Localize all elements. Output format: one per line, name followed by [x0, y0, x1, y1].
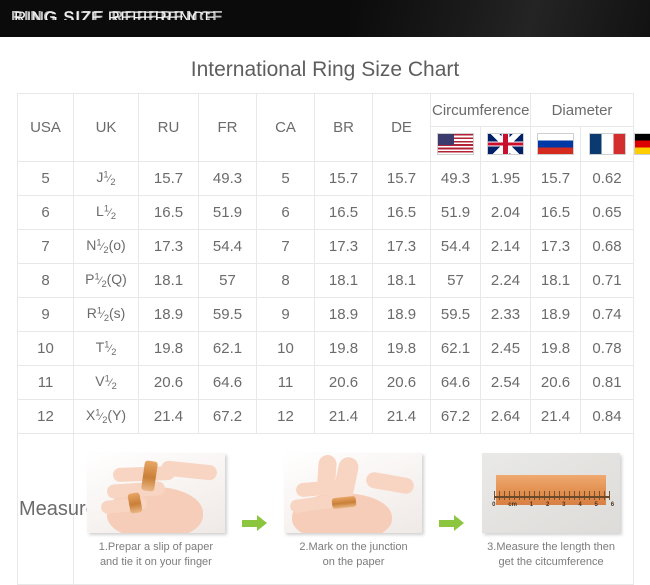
marking-paper-on-finger-photo [284, 453, 422, 533]
cell-br-7: 21.4 [315, 400, 373, 434]
measure-step-1-caption: 1.Prepar a slip of paperand tie it on yo… [86, 540, 226, 570]
cell-diameter-inch-5: 0.78 [581, 332, 634, 366]
flag-cell-uk [481, 127, 531, 162]
cell-br-1: 16.5 [315, 196, 373, 230]
cell-ru-4: 18.9 [139, 298, 199, 332]
cell-de-2: 17.3 [373, 230, 431, 264]
cell-usa-7: 12 [18, 400, 74, 434]
cell-de-0: 15.7 [373, 162, 431, 196]
col-header-br: BR [315, 94, 373, 162]
cell-diameter-inch-2: 0.68 [581, 230, 634, 264]
cell-usa-5: 10 [18, 332, 74, 366]
cell-diameter-inch-4: 0.74 [581, 298, 634, 332]
ruler-mark-3: 2 [546, 502, 549, 508]
cell-de-4: 18.9 [373, 298, 431, 332]
cell-circumference-inch-2: 2.14 [481, 230, 531, 264]
cell-usa-1: 6 [18, 196, 74, 230]
cell-circumference-mm-5: 62.1 [431, 332, 481, 366]
table-row: 8P1⁄2(Q)18.157818.118.1572.2418.10.71 [18, 264, 634, 298]
cell-circumference-inch-6: 2.54 [481, 366, 531, 400]
col-header-fr: FR [199, 94, 257, 162]
cell-uk-4: R1⁄2(s) [74, 298, 139, 332]
col-header-de: DE [373, 94, 431, 162]
cell-diameter-inch-0: 0.62 [581, 162, 634, 196]
col-header-circumference: Circumference [431, 94, 531, 127]
cell-uk-1: L1⁄2 [74, 196, 139, 230]
cell-de-6: 20.6 [373, 366, 431, 400]
ruler-mark-7: 6 [611, 502, 614, 508]
cell-fr-7: 67.2 [199, 400, 257, 434]
col-header-ca: CA [257, 94, 315, 162]
cell-uk-6: V1⁄2 [74, 366, 139, 400]
table-row: 10T1⁄219.862.11019.819.862.12.4519.80.78 [18, 332, 634, 366]
cell-diameter-mm-2: 17.3 [531, 230, 581, 264]
measure-step-2-caption: 2.Mark on the junctionon the paper [283, 540, 423, 570]
cell-ru-0: 15.7 [139, 162, 199, 196]
cell-circumference-mm-1: 51.9 [431, 196, 481, 230]
cell-ru-3: 18.1 [139, 264, 199, 298]
ruler-mark-5: 4 [578, 502, 581, 508]
cell-uk-3: P1⁄2(Q) [74, 264, 139, 298]
cell-diameter-inch-7: 0.84 [581, 400, 634, 434]
cell-circumference-inch-0: 1.95 [481, 162, 531, 196]
measure-steps: 1.Prepar a slip of paperand tie it on yo… [74, 445, 633, 574]
cell-diameter-mm-4: 18.9 [531, 298, 581, 332]
ruler-mark-6: 5 [595, 502, 598, 508]
page-banner: RING SIZE REFERENCE RING SIZE REFERENCE [0, 0, 650, 37]
cell-diameter-mm-6: 20.6 [531, 366, 581, 400]
cell-usa-2: 7 [18, 230, 74, 264]
page-title: International Ring Size Chart [0, 58, 650, 82]
cell-br-3: 18.1 [315, 264, 373, 298]
measure-row: Measure [18, 434, 634, 585]
col-header-diameter: Diameter [531, 94, 634, 127]
cell-br-6: 20.6 [315, 366, 373, 400]
banner-sheen [350, 0, 650, 37]
cell-circumference-inch-1: 2.04 [481, 196, 531, 230]
cell-br-5: 19.8 [315, 332, 373, 366]
ruler-mark-2: 1 [530, 502, 533, 508]
ring-size-table: USA UK RU FR CA BR DE Circumference Diam… [17, 93, 634, 585]
table-body: 5J1⁄215.749.3515.715.749.31.9515.70.626L… [18, 162, 634, 434]
cell-usa-4: 9 [18, 298, 74, 332]
arrow-right-icon-1 [242, 515, 268, 531]
measure-steps-cell: 1.Prepar a slip of paperand tie it on yo… [74, 434, 634, 585]
measure-label: Measure [18, 434, 74, 585]
cell-circumference-mm-7: 67.2 [431, 400, 481, 434]
table-header-row-labels: USA UK RU FR CA BR DE Circumference Diam… [18, 94, 634, 127]
col-header-usa: USA [18, 94, 74, 162]
table-footer: Measure [18, 434, 634, 585]
cell-ca-5: 10 [257, 332, 315, 366]
cell-circumference-mm-0: 49.3 [431, 162, 481, 196]
cell-diameter-mm-1: 16.5 [531, 196, 581, 230]
banner-mask-lower [0, 20, 340, 37]
banner-mask-upper [0, 0, 340, 7]
cell-ca-0: 5 [257, 162, 315, 196]
col-header-ru: RU [139, 94, 199, 162]
cell-diameter-mm-7: 21.4 [531, 400, 581, 434]
cell-ca-3: 8 [257, 264, 315, 298]
cell-circumference-inch-3: 2.24 [481, 264, 531, 298]
cell-uk-5: T1⁄2 [74, 332, 139, 366]
cell-de-5: 19.8 [373, 332, 431, 366]
ruler-scale-marks: 0cm123456 [492, 502, 614, 508]
cell-fr-0: 49.3 [199, 162, 257, 196]
fr-flag-icon [589, 133, 626, 155]
cell-ca-4: 9 [257, 298, 315, 332]
cell-diameter-inch-6: 0.81 [581, 366, 634, 400]
cell-uk-0: J1⁄2 [74, 162, 139, 196]
cell-ca-6: 11 [257, 366, 315, 400]
cell-fr-3: 57 [199, 264, 257, 298]
cell-ru-2: 17.3 [139, 230, 199, 264]
table-row: 5J1⁄215.749.3515.715.749.31.9515.70.62 [18, 162, 634, 196]
cell-de-7: 21.4 [373, 400, 431, 434]
cell-fr-1: 51.9 [199, 196, 257, 230]
cell-circumference-mm-6: 64.6 [431, 366, 481, 400]
cell-br-0: 15.7 [315, 162, 373, 196]
table-row: 7N1⁄2(o)17.354.4717.317.354.42.1417.30.6… [18, 230, 634, 264]
table-row: 12X1⁄2(Y)21.467.21221.421.467.22.6421.40… [18, 400, 634, 434]
cell-uk-2: N1⁄2(o) [74, 230, 139, 264]
ruler-mark-1: cm [508, 502, 517, 508]
cell-ca-1: 6 [257, 196, 315, 230]
measure-step-3-caption: 3.Measure the length thenget the citcumf… [481, 540, 621, 570]
measure-step-1: 1.Prepar a slip of paperand tie it on yo… [86, 453, 226, 570]
cell-de-1: 16.5 [373, 196, 431, 230]
table-row: 11V1⁄220.664.61120.620.664.62.5420.60.81 [18, 366, 634, 400]
cell-circumference-mm-3: 57 [431, 264, 481, 298]
cell-ru-5: 19.8 [139, 332, 199, 366]
cell-fr-4: 59.5 [199, 298, 257, 332]
de-flag-icon [634, 133, 650, 155]
cell-diameter-mm-0: 15.7 [531, 162, 581, 196]
ring-size-table-wrapper: USA UK RU FR CA BR DE Circumference Diam… [17, 93, 633, 585]
flag-cell-fr [581, 127, 634, 162]
cell-diameter-inch-1: 0.65 [581, 196, 634, 230]
cell-diameter-mm-3: 18.1 [531, 264, 581, 298]
cell-fr-2: 54.4 [199, 230, 257, 264]
uk-flag-icon [487, 133, 524, 155]
arrow-right-icon-2 [439, 515, 465, 531]
cell-fr-6: 64.6 [199, 366, 257, 400]
cell-fr-5: 62.1 [199, 332, 257, 366]
cell-ca-2: 7 [257, 230, 315, 264]
ruler-mark-0: 0 [492, 502, 495, 508]
cell-circumference-mm-4: 59.5 [431, 298, 481, 332]
cell-ru-7: 21.4 [139, 400, 199, 434]
measure-step-2: 2.Mark on the junctionon the paper [283, 453, 423, 570]
ruler-measuring-paper-photo: 0cm123456 [482, 453, 620, 533]
cell-circumference-inch-4: 2.33 [481, 298, 531, 332]
cell-usa-3: 8 [18, 264, 74, 298]
cell-ru-1: 16.5 [139, 196, 199, 230]
cell-circumference-inch-7: 2.64 [481, 400, 531, 434]
cell-br-4: 18.9 [315, 298, 373, 332]
hand-with-paper-strip-photo [87, 453, 225, 533]
ru-flag-icon [537, 133, 574, 155]
flag-cell-usa [431, 127, 481, 162]
table-row: 6L1⁄216.551.9616.516.551.92.0416.50.65 [18, 196, 634, 230]
cell-de-3: 18.1 [373, 264, 431, 298]
cell-ru-6: 20.6 [139, 366, 199, 400]
cell-diameter-inch-3: 0.71 [581, 264, 634, 298]
cell-usa-0: 5 [18, 162, 74, 196]
cell-br-2: 17.3 [315, 230, 373, 264]
cell-uk-7: X1⁄2(Y) [74, 400, 139, 434]
cell-circumference-mm-2: 54.4 [431, 230, 481, 264]
measure-step-3: 0cm123456 3.Measure the length thenget t… [481, 453, 621, 570]
table-header: USA UK RU FR CA BR DE Circumference Diam… [18, 94, 634, 162]
cell-usa-6: 11 [18, 366, 74, 400]
us-flag-icon [437, 133, 474, 155]
table-row: 9R1⁄2(s)18.959.5918.918.959.52.3318.90.7… [18, 298, 634, 332]
flag-cell-ru [531, 127, 581, 162]
cell-diameter-mm-5: 19.8 [531, 332, 581, 366]
cell-circumference-inch-5: 2.45 [481, 332, 531, 366]
ruler-mark-4: 3 [562, 502, 565, 508]
cell-ca-7: 12 [257, 400, 315, 434]
col-header-uk: UK [74, 94, 139, 162]
